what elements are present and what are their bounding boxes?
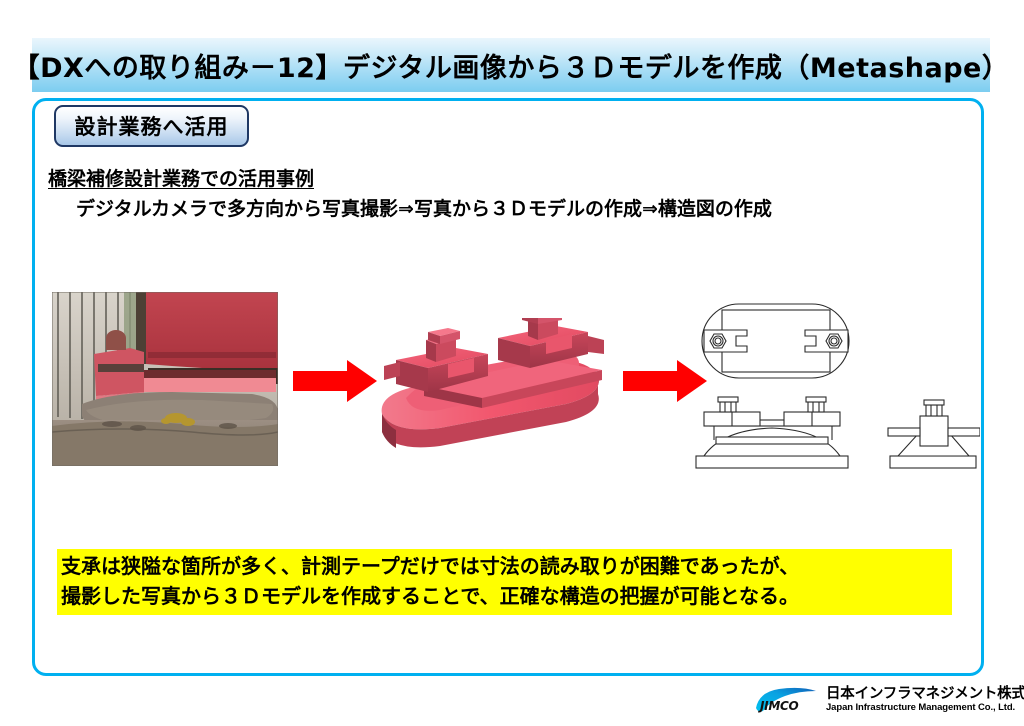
workflow-text: デジタルカメラで多方向から写真撮影⇒写真から３Ｄモデルの作成⇒構造図の作成	[76, 194, 772, 221]
company-name-jp: 日本インフラマネジメント株式会社	[826, 687, 1024, 702]
bridge-bearing-photo	[52, 292, 278, 466]
slide-root: 【DXへの取り組み－12】デジタル画像から３Ｄモデルを作成（Metashape）…	[0, 0, 1024, 726]
3d-bearing-model	[370, 318, 610, 470]
footer-logo: JIMCO 日本インフラマネジメント株式会社 Japan Infrastruct…	[755, 686, 1024, 714]
company-name-en: Japan Infrastructure Management Co., Ltd…	[826, 703, 1024, 713]
logo-company-names: 日本インフラマネジメント株式会社 Japan Infrastructure Ma…	[826, 687, 1024, 713]
svg-text:JIMCO: JIMCO	[758, 699, 798, 713]
page-title: 【DXへの取り組み－12】デジタル画像から３Ｄモデルを作成（Metashape）	[13, 46, 1010, 85]
status-badge: 設計業務へ活用	[54, 105, 249, 147]
highlight-line-1: 支承は狭隘な箇所が多く、計測テープだけでは寸法の読み取りが困難であったが、	[61, 551, 948, 581]
title-bar: 【DXへの取り組み－12】デジタル画像から３Ｄモデルを作成（Metashape）	[32, 38, 990, 92]
highlight-callout: 支承は狭隘な箇所が多く、計測テープだけでは寸法の読み取りが困難であったが、 撮影…	[57, 549, 952, 615]
cad-drawing-views	[692, 294, 980, 480]
jimco-logo-mark-icon: JIMCO	[755, 686, 817, 714]
section-headline: 橋梁補修設計業務での活用事例	[48, 164, 314, 191]
status-badge-label: 設計業務へ活用	[75, 111, 229, 141]
right-arrow-icon-1	[293, 360, 377, 402]
highlight-line-2: 撮影した写真から３Ｄモデルを作成することで、正確な構造の把握が可能となる。	[61, 581, 948, 611]
